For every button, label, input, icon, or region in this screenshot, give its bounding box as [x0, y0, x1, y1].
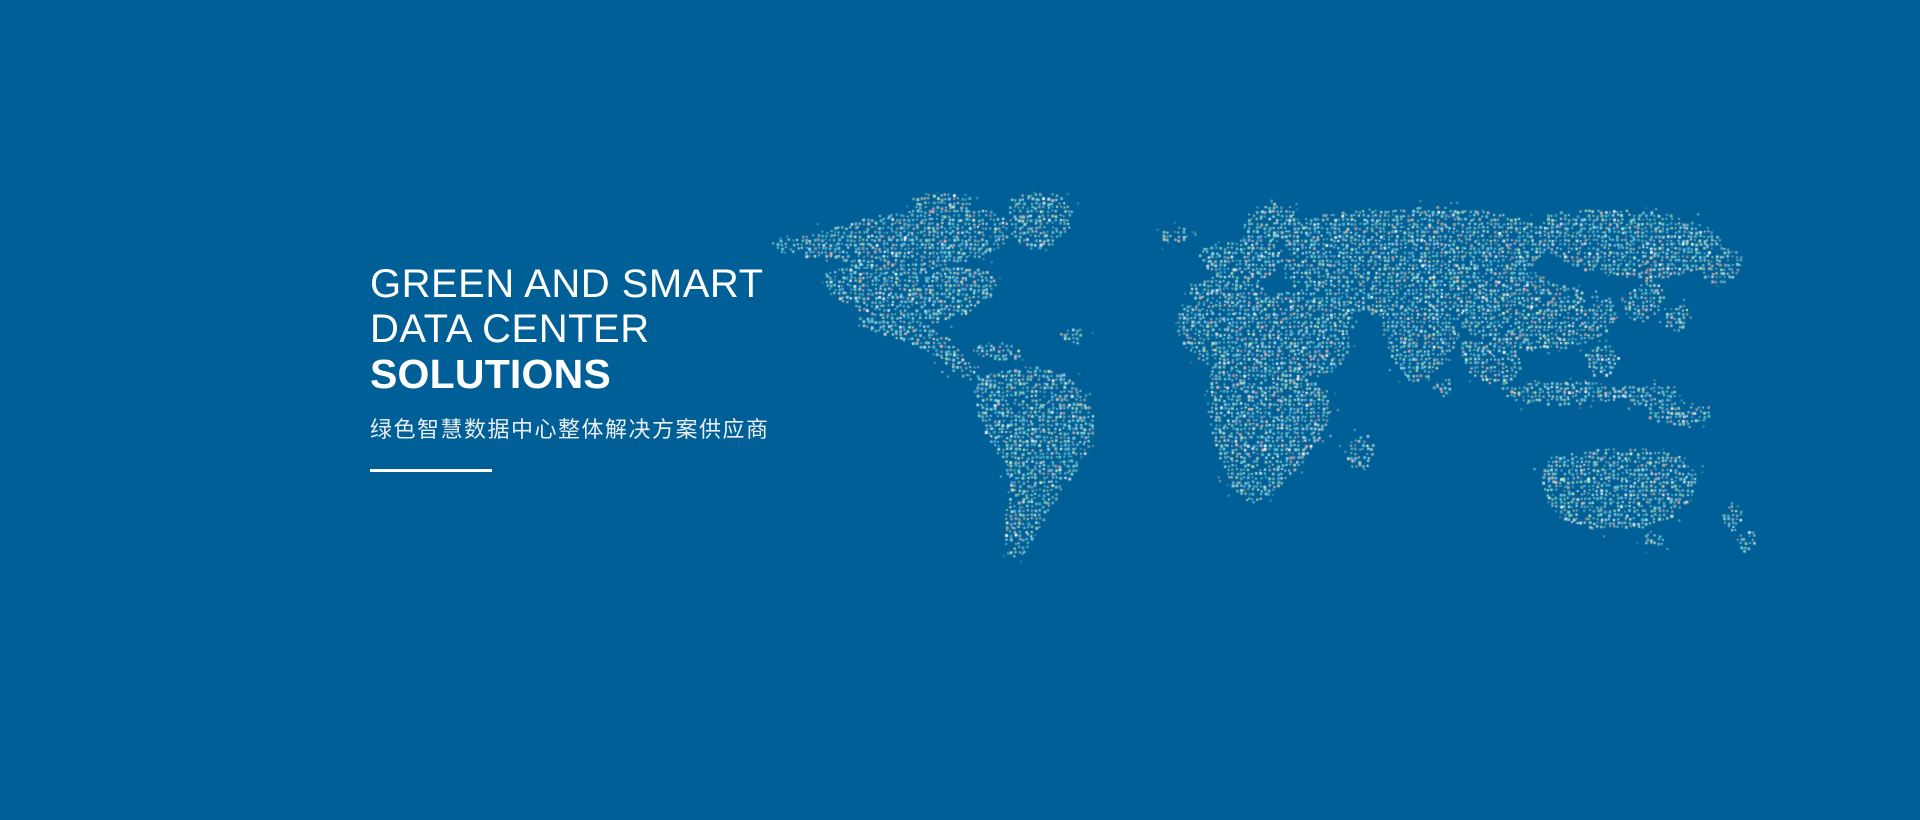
hero-subtitle: 绿色智慧数据中心整体解决方案供应商 [370, 415, 930, 445]
hero-divider-rule [370, 469, 492, 472]
hero-text-block: GREEN AND SMART DATA CENTER SOLUTIONS 绿色… [370, 262, 930, 472]
hero-banner: GREEN AND SMART DATA CENTER SOLUTIONS 绿色… [0, 0, 1920, 820]
headline-line-1: GREEN AND SMART [370, 262, 930, 307]
headline-line-2: DATA CENTER [370, 307, 930, 352]
headline-line-3: SOLUTIONS [370, 352, 930, 397]
